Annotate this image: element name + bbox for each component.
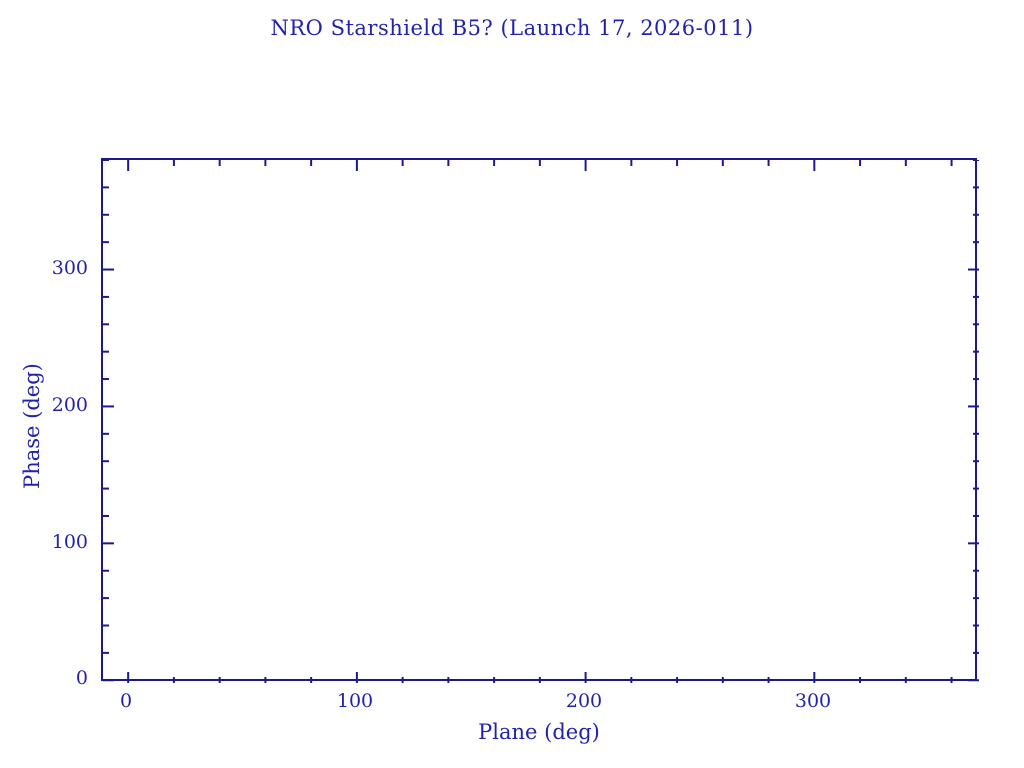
x-axis-title: Plane (deg) <box>101 720 977 744</box>
ytick-label-0: 0 <box>8 667 88 689</box>
y-axis-title: Phase (deg) <box>20 336 44 516</box>
plot-axes-ticks <box>103 160 979 683</box>
xtick-label-300: 300 <box>768 690 858 712</box>
xtick-label-200: 200 <box>539 690 629 712</box>
xtick-label-0: 0 <box>81 690 171 712</box>
chart-figure: NRO Starshield B5? (Launch 17, 2026-011)… <box>0 0 1024 768</box>
xtick-label-100: 100 <box>310 690 400 712</box>
ytick-label-300: 300 <box>8 257 88 279</box>
plot-area[interactable] <box>101 158 977 681</box>
chart-title: NRO Starshield B5? (Launch 17, 2026-011) <box>0 16 1024 40</box>
ytick-label-100: 100 <box>8 531 88 553</box>
